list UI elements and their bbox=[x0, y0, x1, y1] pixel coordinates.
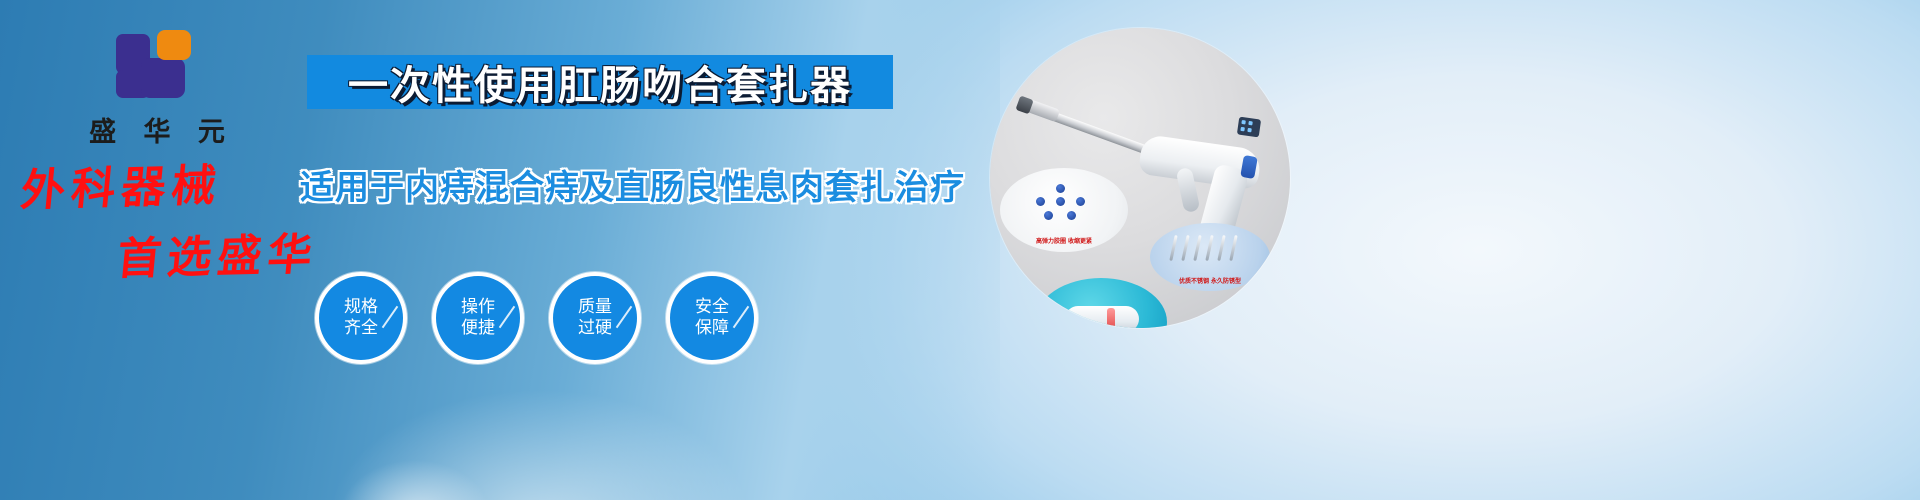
badge-line-1: 操作 bbox=[461, 297, 495, 318]
shenghuayuan-blocks-logo-icon bbox=[111, 26, 203, 104]
logo-block-3 bbox=[141, 58, 185, 98]
badge-line-1: 规格 bbox=[344, 297, 378, 318]
headline-title: 一次性使用肛肠吻合套扎器 bbox=[348, 53, 852, 111]
badge-line-2: 齐全 bbox=[344, 318, 378, 339]
rubber-band-dots-icon bbox=[1034, 184, 1092, 224]
badge-line-2: 便捷 bbox=[461, 318, 495, 339]
needles-icon bbox=[1172, 235, 1252, 265]
bottom-glow bbox=[340, 460, 490, 500]
product-photo: 高弹力胶圈 收缩更紧 优质不锈钢 永久防锈型 bbox=[990, 28, 1290, 328]
brand-name: 盛 华 元 bbox=[62, 110, 252, 149]
badge-line-2: 过硬 bbox=[578, 318, 612, 339]
inset-needles: 优质不锈钢 永久防锈型 bbox=[1150, 223, 1270, 291]
badge-operation[interactable]: 操作 便捷 bbox=[432, 272, 524, 364]
feature-badges: 规格 齐全 操作 便捷 质量 过硬 安全 保障 bbox=[315, 272, 758, 364]
inset-caption: 高弹力胶圈 收缩更紧 bbox=[1000, 236, 1128, 245]
headline-bar: 一次性使用肛肠吻合套扎器 bbox=[307, 55, 893, 109]
inset-cartridge bbox=[1035, 278, 1167, 328]
badge-line-2: 保障 bbox=[695, 318, 729, 339]
device-control-panel bbox=[1237, 117, 1261, 138]
brand-logo[interactable]: 盛 华 元 bbox=[62, 26, 252, 149]
badge-line-1: 质量 bbox=[578, 297, 612, 318]
cartridge-icon bbox=[1065, 306, 1139, 328]
inset-rubber-bands: 高弹力胶圈 收缩更紧 bbox=[1000, 168, 1128, 252]
badge-quality[interactable]: 质量 过硬 bbox=[549, 272, 641, 364]
promo-banner: 盛 华 元 外科器械 首选盛华 一次性使用肛肠吻合套扎器 适用于内痔混合痔及直肠… bbox=[0, 0, 1920, 500]
badge-specifications[interactable]: 规格 齐全 bbox=[315, 272, 407, 364]
inset-caption: 优质不锈钢 永久防锈型 bbox=[1150, 276, 1270, 285]
badge-safety[interactable]: 安全 保障 bbox=[666, 272, 758, 364]
badge-line-1: 安全 bbox=[695, 297, 729, 318]
headline-subtitle: 适用于内痔混合痔及直肠良性息肉套扎治疗 bbox=[300, 160, 900, 209]
logo-block-orange bbox=[157, 30, 191, 60]
